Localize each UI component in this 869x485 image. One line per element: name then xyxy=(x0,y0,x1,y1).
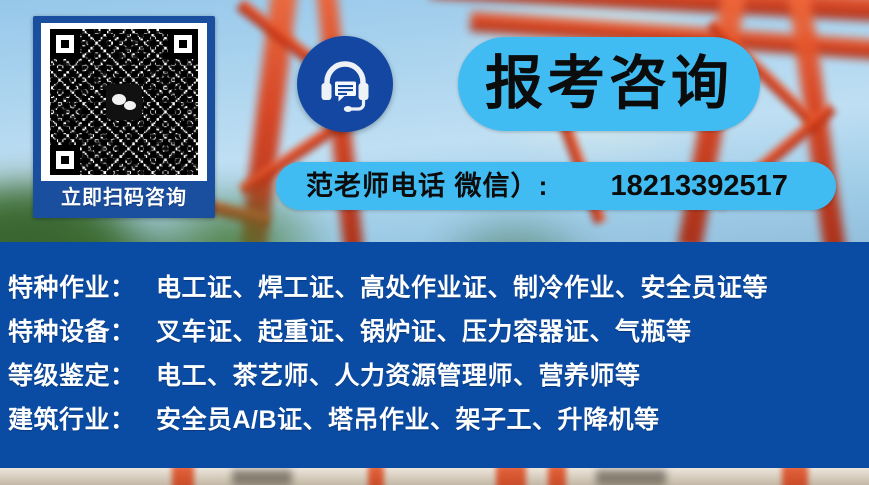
service-value: 安全员A/B证、塔吊作业、架子工、升降机等 xyxy=(156,400,660,436)
crane-beam xyxy=(782,468,808,485)
headset-support-icon xyxy=(297,36,393,132)
service-row-construction-industry: 建筑行业： 安全员A/B证、塔吊作业、架子工、升降机等 xyxy=(8,400,869,444)
page-title: 报考咨询 xyxy=(485,55,733,113)
qr-caption: 立即扫码咨询 xyxy=(61,188,187,208)
contact-label: 范老师电话 微信）: xyxy=(306,173,549,200)
service-row-special-operations: 特种作业： 电工证、焊工证、高处作业证、制冷作业、安全员证等 xyxy=(8,268,869,312)
qr-code-modules xyxy=(50,29,198,175)
qr-finder-top-right xyxy=(168,29,198,59)
service-value: 电工证、焊工证、高处作业证、制冷作业、安全员证等 xyxy=(156,268,768,304)
service-value: 叉车证、起重证、锅炉证、压力容器证、气瓶等 xyxy=(156,312,692,348)
crane-beam xyxy=(172,468,194,485)
wechat-logo-icon xyxy=(106,84,142,120)
qr-finder-top-left xyxy=(50,29,80,59)
wechat-bubble-small xyxy=(124,101,136,111)
title-pill: 报考咨询 xyxy=(458,37,760,131)
service-label: 建筑行业： xyxy=(8,400,156,436)
crane-beam xyxy=(496,468,526,485)
service-label: 特种设备： xyxy=(8,312,156,348)
service-row-special-equipment: 特种设备： 叉车证、起重证、锅炉证、压力容器证、气瓶等 xyxy=(8,312,869,356)
qr-code-image[interactable] xyxy=(41,23,207,181)
contact-pill[interactable]: 范老师电话 微信）: 18213392517 xyxy=(276,162,836,210)
ground-shadow xyxy=(596,470,666,485)
services-panel: 特种作业： 电工证、焊工证、高处作业证、制冷作业、安全员证等 特种设备： 叉车证… xyxy=(0,242,869,468)
service-row-grade-certification: 等级鉴定： 电工、茶艺师、人力资源管理师、营养师等 xyxy=(8,356,869,400)
service-label: 特种作业： xyxy=(8,268,156,304)
phone-number[interactable]: 18213392517 xyxy=(611,172,788,201)
ground-shadow xyxy=(232,470,292,485)
promo-poster: 立即扫码咨询 报考咨询 范老师电话 微信）: 18213392517 xyxy=(0,0,869,485)
crane-beam xyxy=(368,468,384,485)
wechat-bubbles xyxy=(112,94,136,110)
qr-code-card[interactable]: 立即扫码咨询 xyxy=(33,16,215,218)
service-value: 电工、茶艺师、人力资源管理师、营养师等 xyxy=(156,356,641,392)
qr-finder-bottom-left xyxy=(50,145,80,175)
service-label: 等级鉴定： xyxy=(8,356,156,392)
crane-beam xyxy=(548,468,566,485)
bottom-photo-strip xyxy=(0,468,869,485)
